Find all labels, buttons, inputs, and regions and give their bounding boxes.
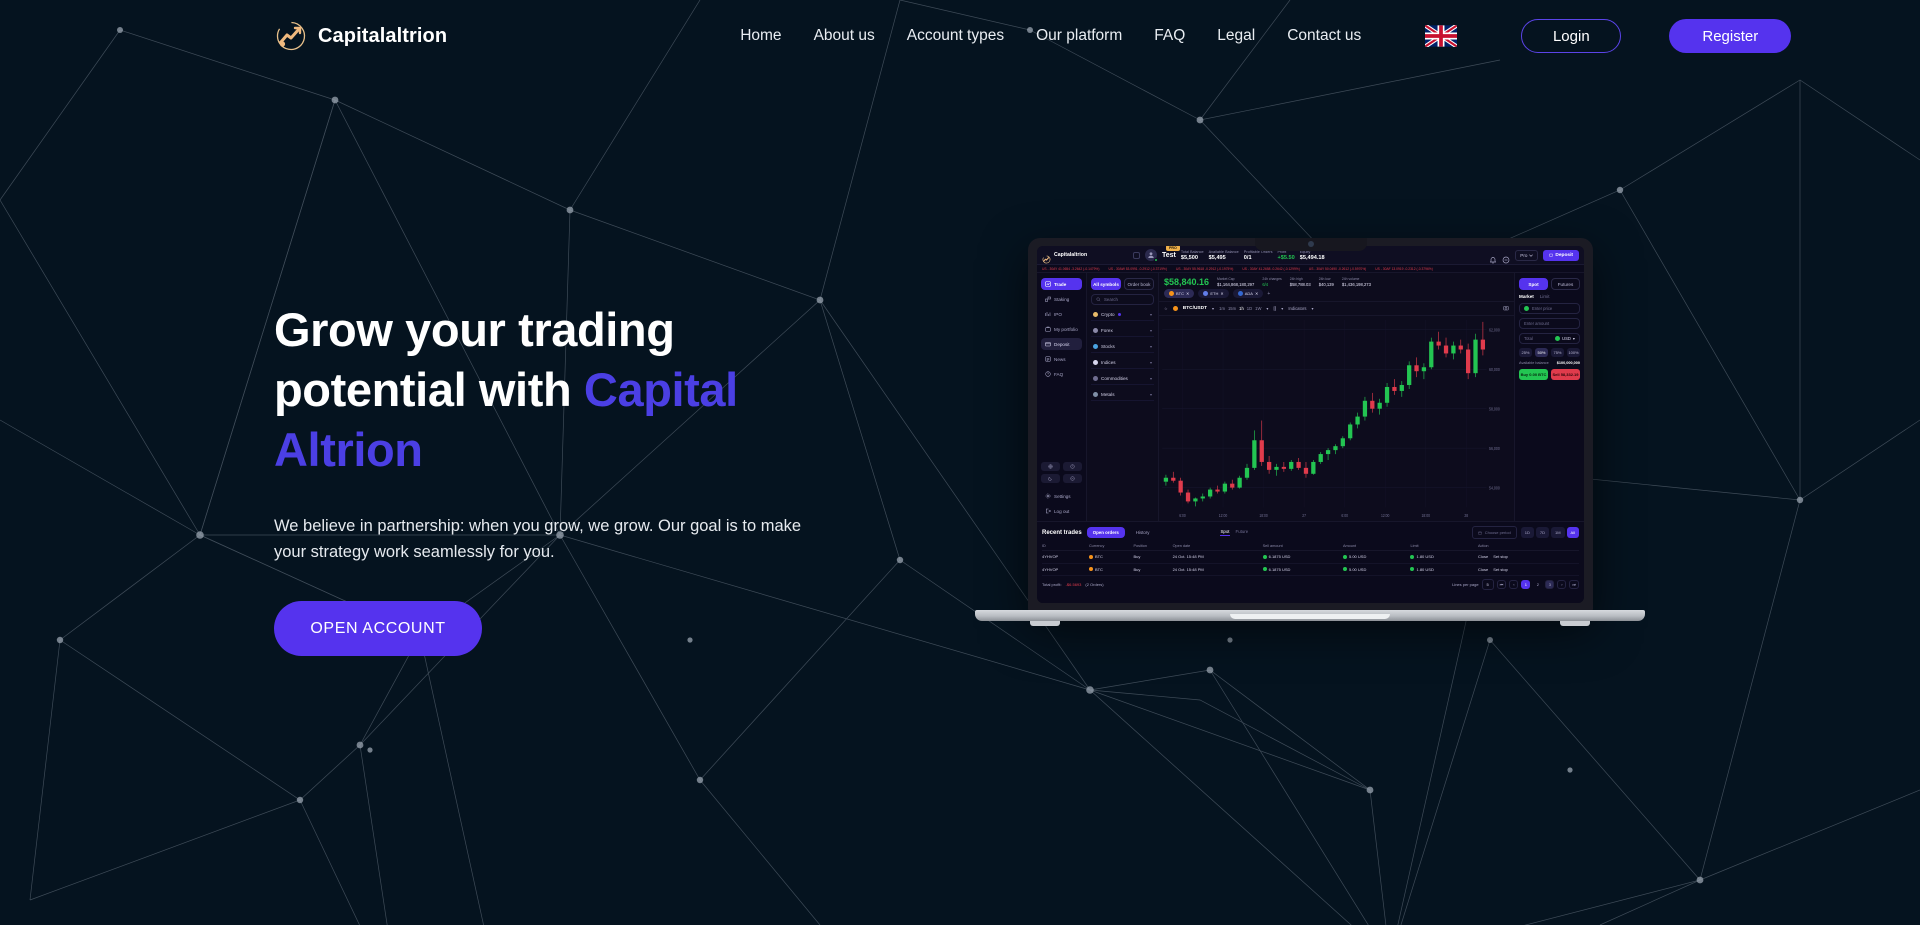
- stat-value: +$5.50: [1278, 255, 1295, 261]
- market-stat-24h-high: 24h high $58,788.03: [1290, 277, 1311, 287]
- svg-text:12:00: 12:00: [1381, 514, 1389, 518]
- btc-icon: [1089, 567, 1093, 571]
- page-first-button[interactable]: ⏮: [1497, 580, 1507, 589]
- message-icon[interactable]: [1502, 251, 1510, 259]
- stat-label: 24h changes: [1262, 277, 1281, 281]
- user-name: PRO Test: [1162, 252, 1176, 259]
- category-label: Stocks: [1101, 344, 1115, 349]
- category-dot: [1093, 328, 1098, 333]
- ticker-item: US - 30AF 13.0919 -0.2312 (-0.3796%): [1375, 267, 1433, 271]
- eth-icon: [1203, 291, 1208, 296]
- laptop-foot-right: [1560, 621, 1590, 626]
- svg-text:12:00: 12:00: [1219, 514, 1227, 518]
- stat-label: 24h low: [1319, 277, 1334, 281]
- stat-value: $58,788.03: [1290, 282, 1311, 287]
- lines-per-page-label: Lines per page: [1452, 582, 1478, 587]
- nav-item-about-us[interactable]: About us: [814, 27, 875, 45]
- tab-limit[interactable]: Limit: [1540, 294, 1550, 299]
- period-label: Choose period: [1485, 530, 1511, 535]
- cell-limit: 1.80 USD: [1410, 554, 1433, 559]
- page-last-button[interactable]: ⏭: [1569, 580, 1579, 589]
- chevron-down-icon[interactable]: ▾: [1150, 360, 1152, 365]
- plan-dropdown[interactable]: Pro: [1515, 250, 1538, 261]
- svg-text:62,000: 62,000: [1489, 327, 1501, 332]
- market-price: $58,840.16: [1164, 277, 1209, 287]
- active-dot: [1118, 313, 1121, 316]
- cell-sell-amount: 6.1875 USD: [1263, 554, 1291, 559]
- card-icon: [1549, 253, 1553, 257]
- sidebar-toggle-icon[interactable]: [1133, 252, 1140, 259]
- nav-item-home[interactable]: Home: [740, 27, 781, 45]
- segment-future[interactable]: Future: [1236, 529, 1249, 536]
- category-label: Forex: [1101, 328, 1113, 333]
- sidebar-item-label: Settings: [1054, 494, 1071, 499]
- col-limit: Limit: [1410, 542, 1478, 551]
- period-picker[interactable]: Choose period: [1472, 526, 1517, 539]
- btc-icon: [1089, 555, 1093, 559]
- stat-profitable-orders: Profitable Orders 0/1: [1244, 250, 1273, 261]
- cell-sell-amount: 6.1875 USD: [1263, 567, 1291, 572]
- set-stop-button[interactable]: Set stop: [1493, 554, 1508, 559]
- ticker-item: US - 30AY 41.0654 -3.2642 (-0.1479%): [1042, 267, 1099, 271]
- trades-segments: Spot Future: [1220, 529, 1248, 536]
- trade-icon: [1045, 281, 1051, 287]
- platform-brand[interactable]: Capitalaltrion: [1042, 251, 1128, 260]
- currency-label: USD: [1562, 336, 1571, 341]
- stat-label: Total Balance: [1181, 250, 1204, 254]
- calendar-icon: [1478, 531, 1482, 535]
- usd-icon: [1263, 555, 1267, 559]
- percent-75[interactable]: 75%: [1551, 348, 1564, 357]
- range-group: 1D 7D 1M All: [1521, 527, 1579, 538]
- btc-icon: [1173, 306, 1178, 311]
- lines-per-page-select[interactable]: 5: [1482, 579, 1494, 590]
- gear-icon: [1045, 493, 1051, 499]
- camera-icon[interactable]: [1503, 305, 1509, 312]
- tab-market[interactable]: Market: [1519, 294, 1534, 299]
- candle-type-icon[interactable]: ⫿⫿: [1274, 306, 1277, 311]
- open-account-button[interactable]: OPEN ACCOUNT: [274, 601, 482, 656]
- ticker-item: US - 30AY 50.0490 -0.2612 (-0.5970%): [1309, 267, 1366, 271]
- search-input[interactable]: Search: [1091, 294, 1154, 305]
- ticker-item: US - 30AY 55.9618 -0.2912 (-0.1975%): [1176, 267, 1233, 271]
- login-button[interactable]: Login: [1521, 19, 1621, 53]
- order-actions: Buy 0.00 BTC Sell 58,332.19: [1519, 369, 1580, 380]
- chevron-down-icon[interactable]: ▾: [1281, 306, 1283, 311]
- stat-total-balance: Total Balance $5,500: [1181, 250, 1204, 261]
- stat-label: Available Balance: [1209, 250, 1239, 254]
- page-3-button[interactable]: 3: [1545, 580, 1554, 589]
- sidebar-item-label: Staking: [1054, 297, 1069, 302]
- svg-text:58,000: 58,000: [1489, 406, 1501, 411]
- tab-history[interactable]: History: [1130, 527, 1156, 538]
- page-2-button[interactable]: 2: [1533, 580, 1542, 589]
- ticker-item: US - 30AY 41.2658 -0.2642 (-0.1299%): [1242, 267, 1299, 271]
- page-next-button[interactable]: ›: [1557, 580, 1566, 589]
- percent-50[interactable]: 50%: [1535, 348, 1548, 357]
- cell-limit: 1.80 USD: [1410, 567, 1433, 572]
- total-profit-orders: (2 Orders): [1085, 582, 1103, 587]
- chevron-down-icon[interactable]: ▾: [1150, 328, 1152, 333]
- close-order-button[interactable]: Close: [1478, 567, 1488, 572]
- market-stat-24h-low: 24h low $40,139: [1319, 277, 1334, 287]
- category-label: Crypto: [1101, 312, 1115, 317]
- chip-eth[interactable]: ETH ✕: [1198, 289, 1228, 298]
- col-sell-amount: Sell amount: [1263, 542, 1343, 551]
- cell-amount: 5.00 USD: [1343, 567, 1366, 572]
- laptop-trackpad-notch: [1230, 614, 1390, 619]
- deposit-button[interactable]: Deposit: [1543, 250, 1579, 261]
- laptop-camera: [1308, 241, 1314, 247]
- svg-text:28: 28: [1464, 514, 1468, 518]
- symbols-panel: All symbols Order book Search Crypto ▾: [1087, 273, 1159, 521]
- close-icon[interactable]: ✕: [1255, 291, 1258, 296]
- svg-text:60,000: 60,000: [1489, 367, 1501, 372]
- nav-item-contact-us[interactable]: Contact us: [1287, 27, 1361, 45]
- platform-sidebar: Trade Staking IPO My portfolio: [1037, 273, 1087, 521]
- close-order-button[interactable]: Close: [1478, 554, 1488, 559]
- stat-label: 24h high: [1290, 277, 1311, 281]
- symbol-category-metals[interactable]: Metals ▾: [1091, 389, 1154, 401]
- timeframe-1h[interactable]: 1h: [1239, 306, 1244, 311]
- table-row[interactable]: 4YHVOP BTC Buy 24 Oct. 15:48 PM 6.1875 U…: [1042, 563, 1579, 576]
- col-amount: Amount: [1343, 542, 1411, 551]
- usd-icon: [1343, 567, 1347, 571]
- cell-id: 4YHVOP: [1042, 551, 1089, 564]
- nav-item-faq[interactable]: FAQ: [1154, 27, 1185, 45]
- sell-button[interactable]: Sell 58,332.19: [1551, 369, 1580, 380]
- news-icon: [1045, 356, 1051, 362]
- recent-trades-panel: Recent trades Open orders History Spot F…: [1037, 521, 1584, 603]
- timeframe-15m[interactable]: 15m: [1228, 306, 1236, 311]
- category-dot: [1093, 312, 1098, 317]
- pro-badge: PRO: [1166, 246, 1180, 251]
- symbol-category-crypto[interactable]: Crypto ▾: [1091, 309, 1154, 321]
- chart-panel: $58,840.16 Market Cap $1,164,868,180,297…: [1159, 273, 1514, 521]
- amount-placeholder: Enter amount: [1524, 321, 1549, 326]
- order-panel: Spot Futures Market Limit Enter price En…: [1514, 273, 1584, 521]
- market-ticker: US - 30AY 41.0654 -3.2642 (-0.1479%) US …: [1037, 265, 1584, 273]
- chip-label: ADA: [1245, 291, 1253, 296]
- available-balance: Available balance $100,000,000: [1519, 361, 1580, 365]
- sidebar-item-ipo[interactable]: IPO: [1041, 308, 1082, 320]
- page-prev-button[interactable]: ‹: [1509, 580, 1518, 589]
- percent-group: 25% 50% 75% 100%: [1519, 348, 1580, 357]
- sidebar-item-label: FAQ: [1054, 372, 1063, 377]
- staking-icon: [1045, 296, 1051, 302]
- svg-text:27: 27: [1302, 514, 1306, 518]
- laptop-lid: Capitalaltrion PRO Test Total Balance $5…: [1028, 238, 1593, 613]
- nav-item-legal[interactable]: Legal: [1217, 27, 1255, 45]
- cell-amount: 5.00 USD: [1343, 554, 1366, 559]
- chart-pair[interactable]: BTC/USDT: [1183, 306, 1207, 311]
- tab-open-orders[interactable]: Open orders: [1087, 527, 1125, 538]
- portfolio-icon: [1045, 326, 1051, 332]
- symbol-category-forex[interactable]: Forex ▾: [1091, 325, 1154, 337]
- brand-name: Capitalaltrion: [318, 25, 447, 48]
- sidebar-item-faq[interactable]: FAQ: [1041, 368, 1082, 380]
- available-balance-label: Available balance: [1519, 361, 1549, 365]
- sidebar-item-news[interactable]: News: [1041, 353, 1082, 365]
- add-coin-icon[interactable]: +: [1267, 291, 1270, 297]
- search-icon: [1096, 297, 1101, 302]
- timeframe-1d[interactable]: 1D: [1247, 306, 1252, 311]
- sidebar-tool-grid: [1041, 462, 1082, 483]
- close-icon[interactable]: ✕: [1220, 291, 1223, 296]
- chat-icon[interactable]: [1063, 474, 1082, 483]
- col-open-date: Open date: [1173, 542, 1263, 551]
- range-all[interactable]: All: [1567, 527, 1579, 538]
- deposit-label: Deposit: [1555, 253, 1573, 258]
- online-status-dot: [1154, 258, 1158, 262]
- stat-value: $1,164,868,180,297: [1217, 282, 1254, 287]
- chip-ada[interactable]: ADA ✕: [1233, 289, 1264, 298]
- coin-chips: BTC ✕ ETH ✕ ADA ✕ +: [1159, 289, 1514, 301]
- tab-all-symbols[interactable]: All symbols: [1091, 278, 1121, 290]
- sidebar-item-my-portfolio[interactable]: My portfolio: [1041, 323, 1082, 335]
- usd-icon: [1343, 555, 1347, 559]
- timeframe-1m[interactable]: 1m: [1219, 306, 1225, 311]
- trades-footer: Total profit: -$6.5693 (2 Orders) Lines …: [1042, 579, 1579, 590]
- chart-arrow-circle-icon: [1042, 251, 1051, 260]
- tab-futures[interactable]: Futures: [1551, 278, 1580, 290]
- total-profit-value: -$6.5693: [1066, 582, 1082, 587]
- market-stat-market-cap: Market Cap $1,164,868,180,297: [1217, 277, 1254, 287]
- site-header: Capitalaltrion Home About us Account typ…: [0, 0, 1920, 72]
- set-stop-button[interactable]: Set stop: [1493, 567, 1508, 572]
- chevron-down-icon[interactable]: ▾: [1150, 312, 1152, 317]
- amount-input[interactable]: Enter amount: [1519, 318, 1580, 329]
- order-type-tabs: Spot Futures: [1519, 278, 1580, 290]
- cell-open-date: 24 Oct. 15:48 PM: [1173, 563, 1263, 576]
- stat-available-balance: Available Balance $5,495: [1209, 250, 1239, 261]
- category-label: Commodities: [1101, 376, 1128, 381]
- range-1m[interactable]: 1M: [1551, 527, 1565, 538]
- main-nav: Home About us Account types Our platform…: [740, 19, 1791, 53]
- nav-item-our-platform[interactable]: Our platform: [1036, 27, 1122, 45]
- sidebar-item-deposit[interactable]: Deposit: [1041, 338, 1082, 350]
- faq-icon: [1045, 371, 1051, 377]
- timeframe-group: 1m 15m 1h 1D 1W: [1219, 306, 1261, 311]
- search-placeholder: Search: [1104, 297, 1118, 302]
- sidebar-item-label: Deposit: [1054, 342, 1070, 347]
- usd-icon: [1263, 567, 1267, 571]
- chip-btc[interactable]: BTC ✕: [1164, 289, 1194, 298]
- close-icon[interactable]: ✕: [1186, 291, 1189, 296]
- svg-text:54,000: 54,000: [1489, 485, 1501, 490]
- total-profit-label: Total profit:: [1042, 582, 1062, 587]
- avatar[interactable]: [1145, 249, 1157, 261]
- symbol-category-commodities[interactable]: Commodities ▾: [1091, 373, 1154, 385]
- sidebar-item-settings[interactable]: Settings: [1041, 490, 1082, 502]
- sidebar-item-label: IPO: [1054, 312, 1062, 317]
- help-icon[interactable]: [1063, 462, 1082, 471]
- chevron-down-icon[interactable]: ▾: [1311, 306, 1313, 311]
- available-balance-value: $100,000,000: [1557, 361, 1580, 365]
- range-7d[interactable]: 7D: [1536, 527, 1549, 538]
- cell-position: Buy: [1133, 551, 1172, 564]
- nav-item-account-types[interactable]: Account types: [907, 27, 1004, 45]
- usd-icon: [1410, 567, 1414, 571]
- bell-icon[interactable]: [1489, 251, 1497, 259]
- chevron-down-icon[interactable]: ▾: [1266, 306, 1268, 311]
- cell-id: 4YHVOP: [1042, 563, 1089, 576]
- symbols-tabs: All symbols Order book: [1091, 278, 1154, 290]
- pagination: Lines per page 5 ⏮ ‹ 1 2 3 › ⏭: [1452, 579, 1579, 590]
- svg-text:56,000: 56,000: [1489, 446, 1501, 451]
- stat-value: 0/1: [1244, 255, 1273, 261]
- category-dot: [1093, 344, 1098, 349]
- stat-value: $5,500: [1181, 255, 1204, 261]
- page-title: Grow your trading potential with Capital…: [274, 300, 874, 480]
- laptop-mockup: Capitalaltrion PRO Test Total Balance $5…: [975, 238, 1645, 633]
- percent-25[interactable]: 25%: [1519, 348, 1532, 357]
- category-dot: [1093, 392, 1098, 397]
- svg-text:6:00: 6:00: [1179, 514, 1186, 518]
- percent-100[interactable]: 100%: [1567, 348, 1580, 357]
- platform-body: Trade Staking IPO My portfolio: [1037, 273, 1584, 521]
- currency-label: BTC: [1095, 567, 1103, 572]
- stat-value: $40,139: [1319, 282, 1334, 287]
- sidebar-item-label: Log out: [1054, 509, 1069, 514]
- category-dot: [1093, 376, 1098, 381]
- trades-table: ID Currency Position Open date Sell amou…: [1042, 542, 1579, 576]
- svg-text:18:00: 18:00: [1422, 514, 1430, 518]
- platform-brand-name: Capitalaltrion: [1054, 252, 1087, 258]
- brand-logo[interactable]: Capitalaltrion: [274, 19, 447, 53]
- usd-icon: [1555, 336, 1560, 341]
- ada-icon: [1238, 291, 1243, 296]
- sidebar-item-label: News: [1054, 357, 1066, 362]
- price-placeholder: Enter price: [1532, 306, 1552, 311]
- platform-screen: Capitalaltrion PRO Test Total Balance $5…: [1037, 246, 1584, 603]
- buy-button[interactable]: Buy 0.00 BTC: [1519, 369, 1548, 380]
- hero-section: Grow your trading potential with Capital…: [274, 300, 874, 656]
- topbar-actions: Pro Deposit: [1489, 250, 1579, 261]
- stat-value: 6/4: [1262, 282, 1281, 287]
- sidebar-item-trade[interactable]: Trade: [1041, 278, 1082, 290]
- indicators-button[interactable]: Indicators: [1288, 306, 1306, 311]
- table-row[interactable]: 4YHVOP BTC Buy 24 Oct. 15:48 PM 6.1875 U…: [1042, 551, 1579, 564]
- category-dot: [1093, 360, 1098, 365]
- tab-spot[interactable]: Spot: [1519, 278, 1548, 290]
- ipo-icon: [1045, 311, 1051, 317]
- stat-label: 24h volume: [1342, 277, 1371, 281]
- stat-profit: Profit +$5.50: [1278, 250, 1295, 261]
- chevron-down-icon[interactable]: ▾: [1150, 376, 1152, 381]
- user-name-text: Test: [1162, 252, 1176, 259]
- stat-equity: Equity $5,494.18: [1300, 250, 1325, 261]
- currency-label: BTC: [1095, 554, 1103, 559]
- page-1-button[interactable]: 1: [1521, 580, 1530, 589]
- chart-arrow-circle-icon: [274, 19, 308, 53]
- col-id: ID: [1042, 542, 1089, 551]
- cell-open-date: 24 Oct. 15:48 PM: [1173, 551, 1263, 564]
- chevron-down-icon[interactable]: ▾: [1573, 336, 1575, 341]
- cell-currency: BTC: [1089, 554, 1103, 559]
- category-label: Metals: [1101, 392, 1115, 397]
- stat-value: $5,495: [1209, 255, 1239, 261]
- cell-position: Buy: [1133, 563, 1172, 576]
- timeframe-1w[interactable]: 1W: [1255, 306, 1261, 311]
- cell-currency: BTC: [1089, 567, 1103, 572]
- col-currency: Currency: [1089, 542, 1134, 551]
- trades-title: Recent trades: [1042, 530, 1082, 536]
- chip-label: BTC: [1176, 291, 1184, 296]
- chart-toolbar: ☆ BTC/USDT ▾ 1m 15m 1h 1D 1W ▾ ⫿⫿: [1159, 301, 1514, 316]
- segment-spot[interactable]: Spot: [1220, 529, 1229, 536]
- favorite-icon[interactable]: ☆: [1164, 306, 1168, 311]
- logout-icon: [1045, 508, 1051, 514]
- plan-label: Pro: [1520, 253, 1527, 258]
- hero-subtitle: We believe in partnership: when you grow…: [274, 513, 834, 565]
- laptop-foot-left: [1030, 621, 1060, 626]
- moon-icon[interactable]: [1041, 474, 1060, 483]
- candlestick-chart[interactable]: 62,00060,00058,00056,00054,0006:0012:001…: [1159, 316, 1514, 521]
- usd-icon: [1410, 555, 1414, 559]
- chevron-down-icon[interactable]: ▾: [1150, 344, 1152, 349]
- sidebar-item-staking[interactable]: Staking: [1041, 293, 1082, 305]
- market-stat-24h-volume: 24h volume $1,436,198,273: [1342, 277, 1371, 287]
- symbol-category-stocks[interactable]: Stocks ▾: [1091, 341, 1154, 353]
- globe-icon[interactable]: [1041, 462, 1060, 471]
- market-summary: $58,840.16 Market Cap $1,164,868,180,297…: [1159, 273, 1514, 289]
- symbol-category-indices[interactable]: Indices ▾: [1091, 357, 1154, 369]
- trades-filters: Choose period 1D 7D 1M All: [1472, 526, 1579, 539]
- tab-order-book[interactable]: Order book: [1124, 278, 1154, 290]
- col-position: Position: [1133, 542, 1172, 551]
- trades-header: Recent trades Open orders History Spot F…: [1042, 526, 1579, 539]
- stat-label: Market Cap: [1217, 277, 1254, 281]
- total-input[interactable]: Total USD ▾: [1519, 333, 1580, 344]
- deposit-icon: [1045, 341, 1051, 347]
- stat-value: $1,436,198,273: [1342, 282, 1371, 287]
- range-1d[interactable]: 1D: [1521, 527, 1534, 538]
- col-action: Action: [1478, 542, 1579, 551]
- category-label: Indices: [1101, 360, 1116, 365]
- total-label: Total: [1524, 336, 1533, 341]
- sidebar-item-label: My portfolio: [1054, 327, 1078, 332]
- svg-text:6:00: 6:00: [1341, 514, 1348, 518]
- register-button[interactable]: Register: [1669, 19, 1791, 53]
- btc-icon: [1169, 291, 1174, 296]
- sidebar-item-label: Trade: [1054, 282, 1066, 287]
- svg-text:18:00: 18:00: [1259, 514, 1267, 518]
- chip-label: ETH: [1210, 291, 1218, 296]
- stat-value: $5,494.18: [1300, 255, 1325, 261]
- chevron-down-icon[interactable]: ▾: [1150, 392, 1152, 397]
- sidebar-item-logout[interactable]: Log out: [1041, 505, 1082, 517]
- uk-flag-icon[interactable]: [1425, 25, 1457, 47]
- order-mode-tabs: Market Limit: [1519, 294, 1580, 299]
- sidebar-spacer: [1041, 383, 1082, 459]
- price-input[interactable]: Enter price: [1519, 303, 1580, 314]
- table-header-row: ID Currency Position Open date Sell amou…: [1042, 542, 1579, 551]
- currency-icon: [1524, 306, 1529, 311]
- chevron-down-icon[interactable]: ▾: [1212, 306, 1214, 311]
- chevron-down-icon: [1529, 254, 1533, 257]
- ticker-item: US - 30AW 53.0991 -0.2912 (-0.3719%): [1108, 267, 1167, 271]
- market-stat-24h-changes: 24h changes 6/4: [1262, 277, 1281, 287]
